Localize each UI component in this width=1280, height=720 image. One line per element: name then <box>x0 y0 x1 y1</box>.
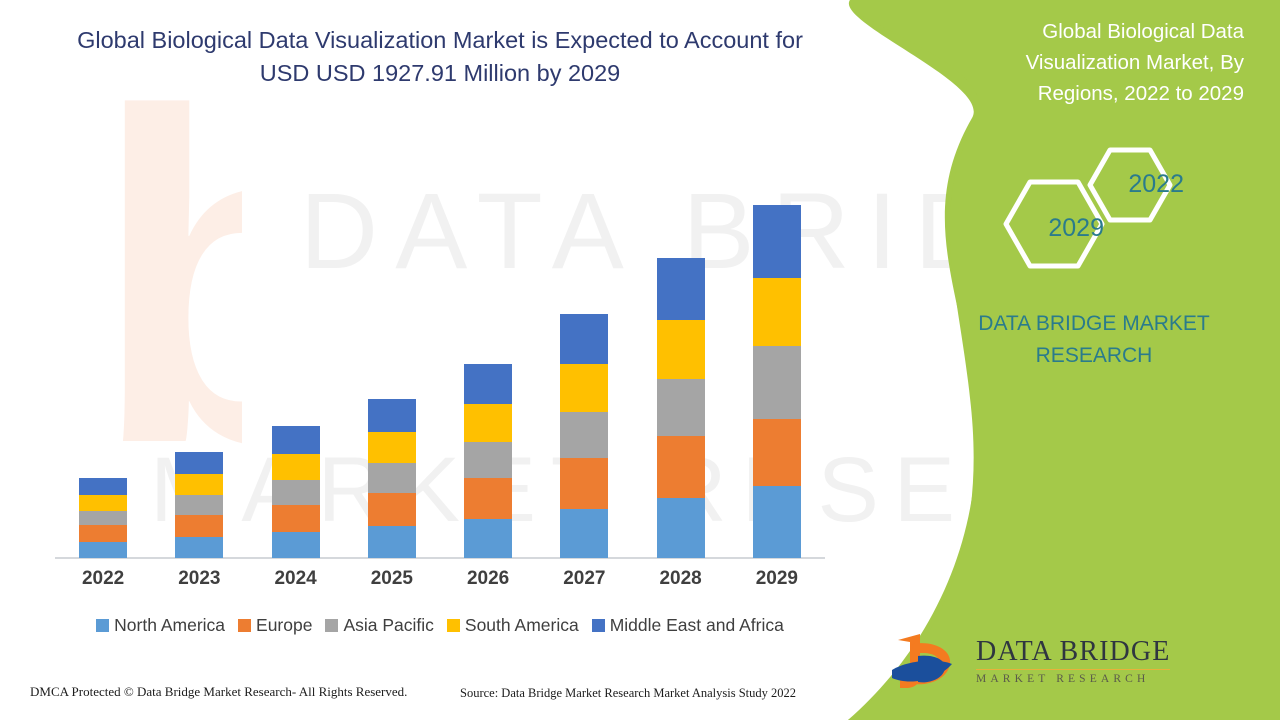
bar-segment <box>175 452 223 474</box>
bar-segment <box>272 480 320 505</box>
bar-segment <box>464 364 512 404</box>
logo-name-sub: MARKET RESEARCH <box>976 673 1206 685</box>
bar-segment <box>560 509 608 558</box>
legend-label: Europe <box>256 615 312 636</box>
bar-column <box>633 258 729 558</box>
legend-item[interactable]: Middle East and Africa <box>592 615 784 636</box>
legend-swatch-icon <box>447 619 460 632</box>
bar-segment <box>79 495 127 511</box>
x-axis-label: 2026 <box>440 568 536 590</box>
bar-segment <box>657 258 705 320</box>
bar-segment <box>79 511 127 525</box>
legend-label: South America <box>465 615 579 636</box>
bar-segment <box>464 404 512 442</box>
legend-item[interactable]: Europe <box>238 615 312 636</box>
bar-segment <box>368 493 416 526</box>
dmca-notice: DMCA Protected © Data Bridge Market Rese… <box>30 684 407 700</box>
panel-title: Global Biological Data Visualization Mar… <box>944 16 1244 109</box>
logo-wordmark: DATA BRIDGE MARKET RESEARCH <box>976 636 1206 685</box>
bar-column <box>536 314 632 558</box>
bar-segment <box>753 205 801 278</box>
bar-column <box>248 426 344 558</box>
bar-column <box>151 452 247 558</box>
legend-swatch-icon <box>325 619 338 632</box>
hexagon-label-2022: 2022 <box>1128 170 1184 199</box>
legend-item[interactable]: Asia Pacific <box>325 615 433 636</box>
bar-column <box>55 478 151 558</box>
bar-segment <box>175 537 223 558</box>
bar-segment <box>368 432 416 463</box>
logo-name-main: DATA BRIDGE <box>976 636 1170 670</box>
stacked-bar <box>657 258 705 558</box>
bar-segment <box>560 412 608 458</box>
data-bridge-logo: DATA BRIDGE MARKET RESEARCH <box>890 630 1210 700</box>
legend-label: Middle East and Africa <box>610 615 784 636</box>
stacked-bar <box>464 364 512 558</box>
bar-segment <box>560 314 608 364</box>
bar-segment <box>560 458 608 509</box>
page-title: Global Biological Data Visualization Mar… <box>60 24 820 91</box>
stacked-bar <box>560 314 608 558</box>
bar-segment <box>368 463 416 493</box>
legend-swatch-icon <box>96 619 109 632</box>
stacked-bar <box>753 205 801 558</box>
bar-segment <box>464 442 512 478</box>
x-axis-label: 2029 <box>729 568 825 590</box>
x-axis-labels: 20222023202420252026202720282029 <box>55 568 825 590</box>
legend-item[interactable]: North America <box>96 615 225 636</box>
legend-swatch-icon <box>592 619 605 632</box>
bar-column <box>729 205 825 558</box>
bar-segment <box>657 436 705 498</box>
stacked-bar <box>175 452 223 558</box>
bar-segment <box>464 478 512 519</box>
legend-swatch-icon <box>238 619 251 632</box>
stacked-bar <box>79 478 127 558</box>
source-note: Source: Data Bridge Market Research Mark… <box>460 686 796 701</box>
bar-segment <box>368 399 416 432</box>
logo-b-mark-icon <box>890 630 966 696</box>
hexagon-label-2029: 2029 <box>1048 214 1104 243</box>
bar-segment <box>79 542 127 558</box>
bar-segment <box>272 454 320 480</box>
bar-segment <box>79 478 127 495</box>
bar-segment <box>464 519 512 558</box>
x-axis-label: 2025 <box>344 568 440 590</box>
legend-item[interactable]: South America <box>447 615 579 636</box>
bar-segment <box>79 525 127 542</box>
bar-segment <box>560 364 608 412</box>
bar-segment <box>272 505 320 532</box>
x-axis-label: 2028 <box>633 568 729 590</box>
stacked-bar <box>368 399 416 558</box>
x-axis-label: 2024 <box>248 568 344 590</box>
bar-column <box>344 399 440 558</box>
x-axis-label: 2022 <box>55 568 151 590</box>
panel-brand-name: DATA BRIDGE MARKET RESEARCH <box>944 308 1244 371</box>
bar-segment <box>175 495 223 515</box>
bar-segment <box>272 532 320 558</box>
legend-label: North America <box>114 615 225 636</box>
stacked-bar-chart <box>55 150 825 558</box>
bar-segment <box>753 486 801 558</box>
bar-segment <box>753 419 801 486</box>
x-axis-label: 2023 <box>151 568 247 590</box>
hexagon-group: 2022 2029 <box>992 142 1202 282</box>
bar-segment <box>175 515 223 537</box>
bar-segment <box>657 498 705 558</box>
legend-label: Asia Pacific <box>343 615 433 636</box>
infographic-root: b DATA BRIDGE MARKET RESEARCH Global Bio… <box>0 0 1280 720</box>
bar-segment <box>272 426 320 454</box>
bar-segment <box>368 526 416 558</box>
bar-segment <box>753 278 801 346</box>
bar-column <box>440 364 536 558</box>
bar-segment <box>753 346 801 419</box>
chart-legend: North AmericaEuropeAsia PacificSouth Ame… <box>40 615 840 636</box>
bar-segment <box>657 320 705 379</box>
bar-segment <box>175 474 223 495</box>
bar-segment <box>657 379 705 436</box>
x-axis-label: 2027 <box>536 568 632 590</box>
stacked-bar <box>272 426 320 558</box>
